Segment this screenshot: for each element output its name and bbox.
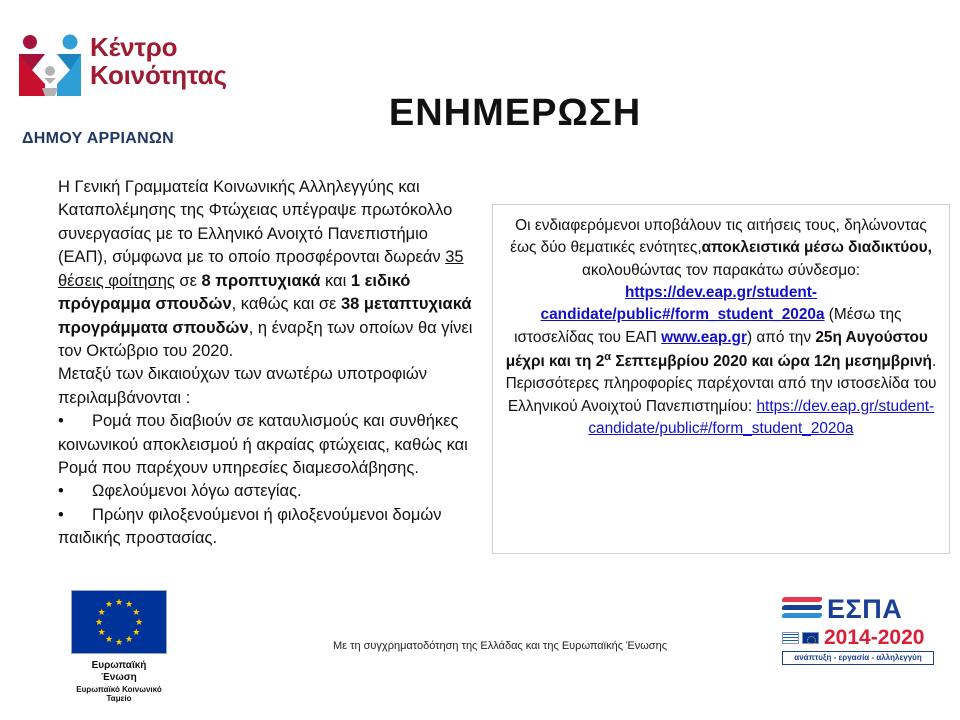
bullet-icon: • bbox=[58, 504, 92, 527]
list-item: •Πρώην φιλοξενούμενοι ή φιλοξενούμενοι δ… bbox=[58, 504, 478, 551]
bullet-icon: • bbox=[58, 410, 92, 433]
list-item-text: Ωφελούμενοι λόγω αστεγίας. bbox=[92, 482, 302, 500]
eu-caption-line3: Ευρωπαϊκό Κοινωνικό bbox=[44, 685, 194, 695]
eu-caption-primary: Ευρωπαϊκή Ένωση bbox=[44, 660, 194, 684]
info-text-2: ακολουθώντας τον παρακάτω σύνδεσμο: bbox=[582, 262, 860, 279]
eu-caption-line1: Ευρωπαϊκή bbox=[44, 660, 194, 672]
eu-caption-line2: Ένωση bbox=[44, 672, 194, 684]
espa-logo: ΕΣΠΑ 2014-2020 ανάπτυξη - εργασία - αλλη… bbox=[782, 592, 942, 666]
eu-caption-line4: Ταμείο bbox=[44, 694, 194, 704]
info-box: Οι ενδιαφερόμενοι υποβάλουν τις αιτήσεις… bbox=[492, 204, 950, 554]
page-title: ΕΝΗΜΕΡΩΣΗ bbox=[300, 92, 730, 135]
p1-part-a: Η Γενική Γραμματεία Κοινωνικής Αλληλεγγύ… bbox=[58, 178, 452, 266]
eu-star-icon: ★ bbox=[135, 618, 144, 627]
bullet-icon: • bbox=[58, 480, 92, 503]
eu-star-icon: ★ bbox=[97, 628, 106, 637]
info-bold-1: αποκλειστικά μέσω διαδικτύου, bbox=[702, 239, 932, 256]
slide-canvas: Κέντρο Κοινότητας ΔΗΜΟΥ ΑΡΡΙΑΝΩΝ ΕΝΗΜΕΡΩ… bbox=[0, 0, 960, 720]
list-item: •Ρομά που διαβιούν σε καταυλισμούς και σ… bbox=[58, 410, 478, 480]
espa-years: 2014-2020 bbox=[824, 627, 924, 649]
espa-tagline: ανάπτυξη - εργασία - αλληλεγγύη bbox=[782, 651, 934, 665]
left-body-text: Η Γενική Γραμματεία Κοινωνικής Αλληλεγγύ… bbox=[58, 176, 478, 551]
kentro-koinotitas-logo: Κέντρο Κοινότητας bbox=[18, 34, 278, 106]
eu-star-icon: ★ bbox=[132, 608, 141, 617]
logo-wordmark: Κέντρο Κοινότητας bbox=[90, 34, 227, 89]
logo-wordmark-line2: Κοινότητας bbox=[90, 62, 227, 90]
logo-wordmark-line1: Κέντρο bbox=[90, 32, 177, 62]
p1-bold-1: 8 προπτυχιακά bbox=[202, 272, 321, 290]
p1-part-b: σε bbox=[175, 272, 202, 290]
eu-flag-mini-icon bbox=[802, 632, 819, 644]
espa-swoosh-icon bbox=[782, 594, 824, 624]
eu-star-icon: ★ bbox=[115, 598, 124, 607]
eap-website-link[interactable]: www.eap.gr bbox=[661, 329, 747, 346]
paragraph-1: Η Γενική Γραμματεία Κοινωνικής Αλληλεγγύ… bbox=[58, 176, 478, 363]
p1-part-c: και bbox=[320, 272, 350, 290]
three-figures-icon bbox=[18, 34, 82, 96]
eu-caption-secondary: Ευρωπαϊκό Κοινωνικό Ταμείο bbox=[44, 685, 194, 704]
paragraph-2: Μεταξύ των δικαιούχων των ανωτέρω υποτρο… bbox=[58, 363, 478, 410]
eu-star-icon: ★ bbox=[125, 635, 134, 644]
cofinancing-note: Με τη συγχρηματοδότηση της Ελλάδας και τ… bbox=[260, 640, 740, 652]
info-box-content: Οι ενδιαφερόμενοι υποβάλουν τις αιτήσεις… bbox=[493, 205, 949, 448]
application-link[interactable]: https://dev.eap.gr/student-candidate/pub… bbox=[541, 284, 825, 323]
espa-logo-mid: 2014-2020 bbox=[782, 627, 942, 649]
eu-star-icon: ★ bbox=[105, 600, 114, 609]
eu-star-icon: ★ bbox=[115, 638, 124, 647]
list-item: •Ωφελούμενοι λόγω αστεγίας. bbox=[58, 480, 478, 503]
espa-logo-top: ΕΣΠΑ bbox=[782, 592, 942, 626]
list-item-text: Ρομά που διαβιούν σε καταυλισμούς και συ… bbox=[58, 412, 468, 477]
eu-star-icon: ★ bbox=[95, 618, 104, 627]
greek-flag-icon bbox=[782, 632, 799, 644]
european-union-logo: ★★★★★★★★★★★★ Ευρωπαϊκή Ένωση Ευρωπαϊκό Κ… bbox=[44, 590, 194, 704]
eu-flag-icon: ★★★★★★★★★★★★ bbox=[71, 590, 167, 654]
info-text-4: ) από την bbox=[747, 329, 815, 346]
list-item-text: Πρώην φιλοξενούμενοι ή φιλοξενούμενοι δο… bbox=[58, 506, 442, 547]
p1-part-d: , καθώς και σε bbox=[232, 295, 341, 313]
municipality-label: ΔΗΜΟΥ ΑΡΡΙΑΝΩΝ bbox=[22, 130, 174, 148]
info-bold-2b: Σεπτεμβρίου 2020 και ώρα 12η μεσημβρινή bbox=[611, 353, 932, 370]
espa-wordmark: ΕΣΠΑ bbox=[827, 594, 902, 624]
